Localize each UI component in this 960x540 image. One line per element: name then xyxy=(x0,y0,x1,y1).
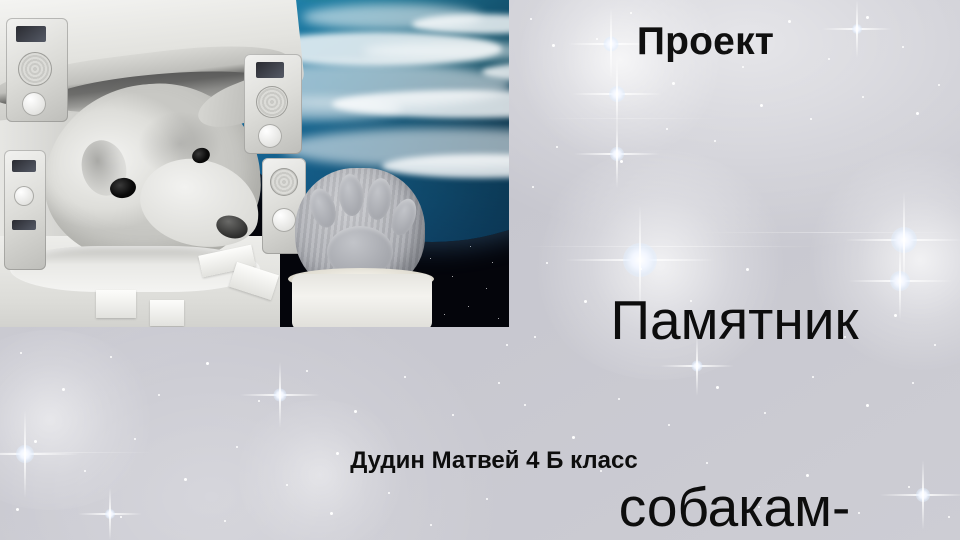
suit-tape xyxy=(150,300,184,326)
presentation-slide: Проект Памятник собакам- космонавтам Дуд… xyxy=(0,0,960,540)
slide-kicker: Проект xyxy=(0,22,960,63)
page-title: Памятник собакам- космонавтам xyxy=(509,165,960,540)
helmet-module-right xyxy=(244,54,302,154)
suit-chest-module xyxy=(4,150,46,270)
star-glint xyxy=(78,488,142,540)
star-glint xyxy=(572,58,662,130)
title-line-1: Памятник xyxy=(509,289,960,351)
suit-tape xyxy=(96,290,136,318)
glove-cuff xyxy=(292,274,432,327)
star-glint xyxy=(240,362,320,428)
author-line: Дудин Матвей 4 Б класс xyxy=(0,447,960,475)
title-line-2: собакам- xyxy=(509,476,960,538)
